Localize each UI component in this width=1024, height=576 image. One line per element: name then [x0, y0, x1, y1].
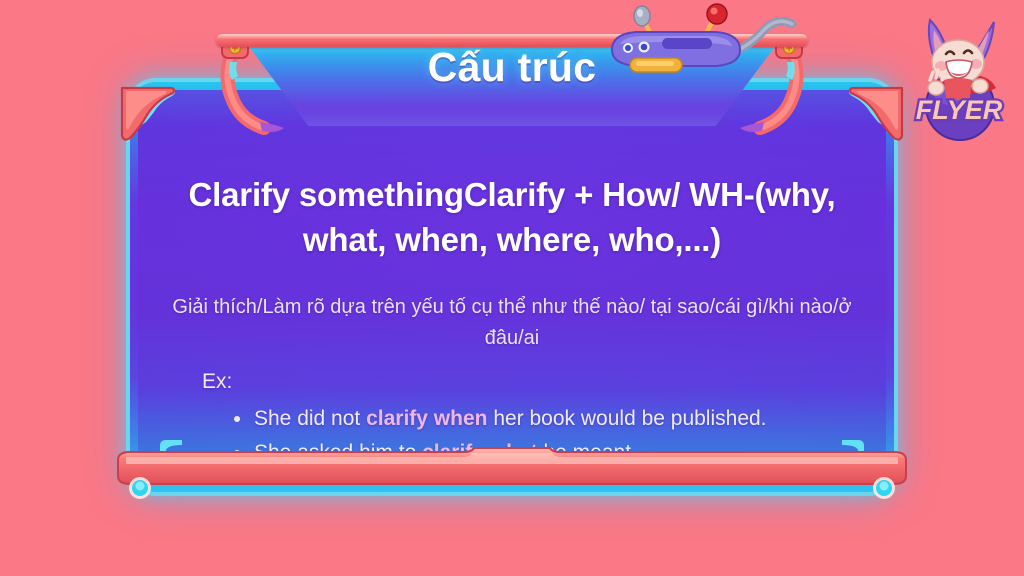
list-item: She did not clarify when her book would …	[230, 402, 850, 436]
example-text-after: her book would be published.	[487, 407, 766, 430]
flyer-logo[interactable]: FLYER	[900, 6, 1018, 144]
example-highlight: clarify what	[422, 441, 538, 464]
example-text-before: She asked him to	[254, 441, 422, 464]
example-highlight: clarify when	[366, 407, 487, 430]
list-item: She asked him to clarify what he meant.	[230, 436, 850, 470]
flyer-wordmark: FLYER	[916, 95, 1003, 125]
structure-formula-title: Clarify somethingClarify + How/ WH-(why,…	[156, 172, 868, 262]
examples-list: She did not clarify when her book would …	[230, 402, 850, 470]
example-text-before: She did not	[254, 407, 366, 430]
card-body: Clarify somethingClarify + How/ WH-(why,…	[138, 90, 886, 484]
slide-canvas: Clarify somethingClarify + How/ WH-(why,…	[0, 0, 1024, 576]
card-content: Clarify somethingClarify + How/ WH-(why,…	[138, 90, 886, 484]
vietnamese-description: Giải thích/Làm rõ dựa trên yếu tố cụ thể…	[156, 292, 868, 354]
examples-label: Ex:	[202, 370, 232, 394]
structure-card: Clarify somethingClarify + How/ WH-(why,…	[112, 62, 912, 502]
banner-top-bar	[216, 34, 808, 47]
example-text-after: he meant.	[538, 441, 637, 464]
